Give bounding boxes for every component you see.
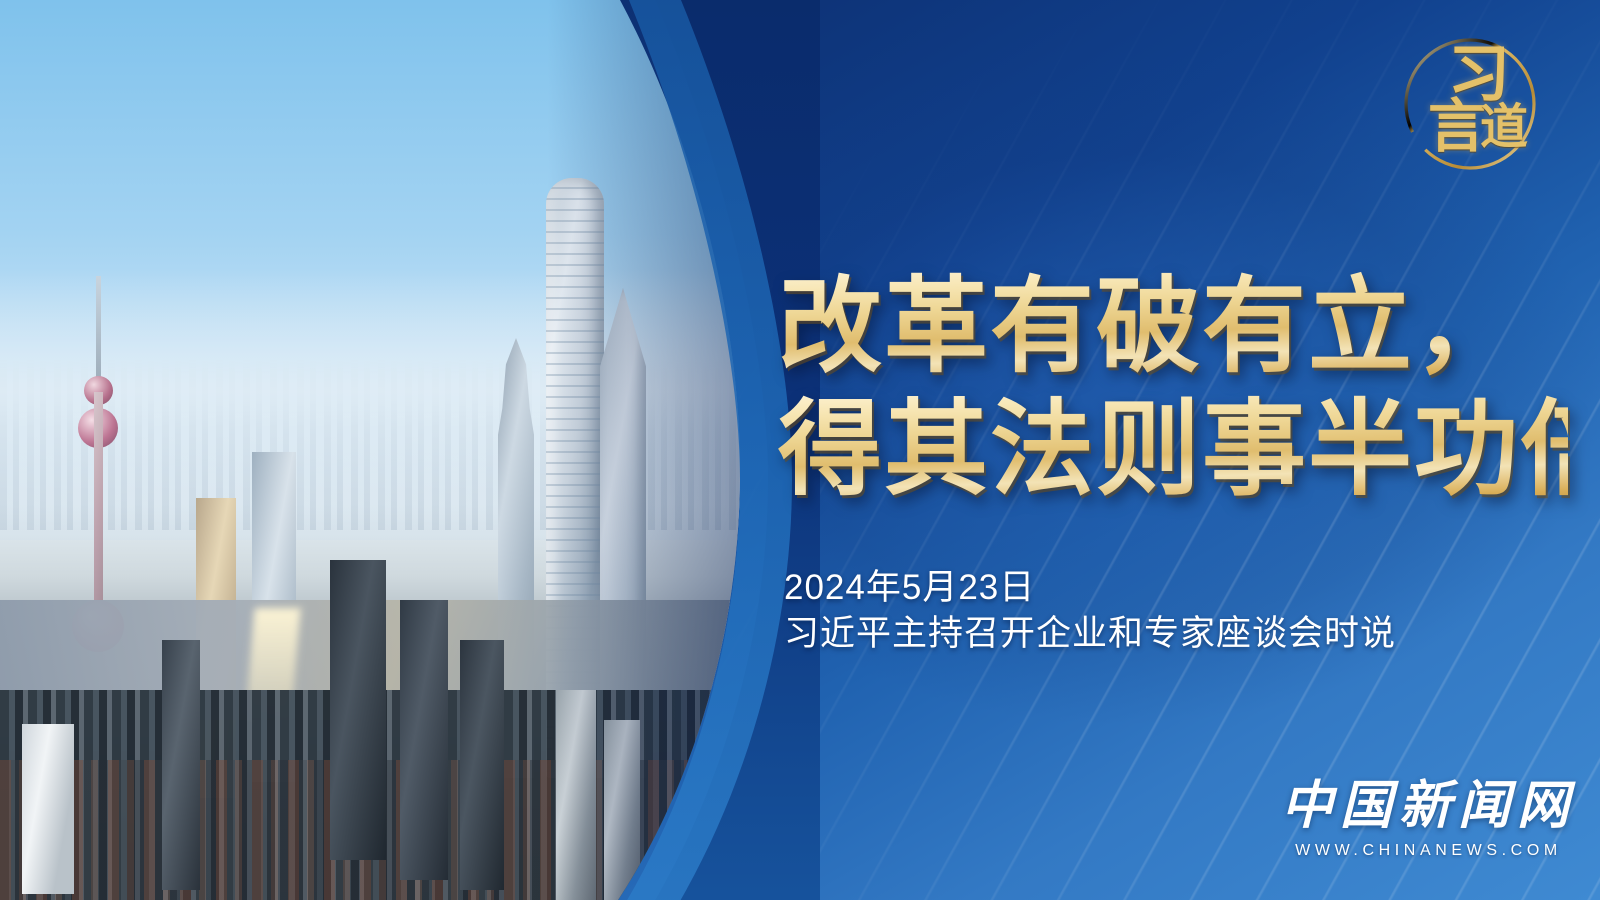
- photo-sky: [0, 0, 760, 900]
- headline: 改革有破有立， 得其法则事半功倍: [778, 268, 1568, 511]
- poster-canvas: 习 言 道 改革有破有立， 得其法则事半功倍 2024年5月23日 习近平主持召…: [0, 0, 1600, 900]
- xi-yan-dao-seal-logo[interactable]: 习 言 道: [1392, 26, 1548, 182]
- meta-block: 2024年5月23日 习近平主持召开企业和专家座谈会时说: [784, 565, 1396, 657]
- brand-url: WWW.CHINANEWS.COM: [1281, 842, 1576, 860]
- photo-edge-shadow: [0, 0, 760, 900]
- seal-char-dao: 道: [1480, 104, 1528, 152]
- seal-char-yan: 言: [1428, 98, 1486, 156]
- brand-name-cn: 中国新闻网: [1281, 781, 1576, 833]
- headline-line-1: 改革有破有立，: [778, 268, 1568, 389]
- chinanews-brand[interactable]: 中国新闻网 WWW.CHINANEWS.COM: [1281, 781, 1576, 860]
- cityscape-photo: [0, 0, 760, 900]
- speech-date: 2024年5月23日: [784, 565, 1396, 611]
- speech-caption: 习近平主持召开企业和专家座谈会时说: [784, 611, 1396, 657]
- headline-line-2: 得其法则事半功倍: [778, 391, 1568, 512]
